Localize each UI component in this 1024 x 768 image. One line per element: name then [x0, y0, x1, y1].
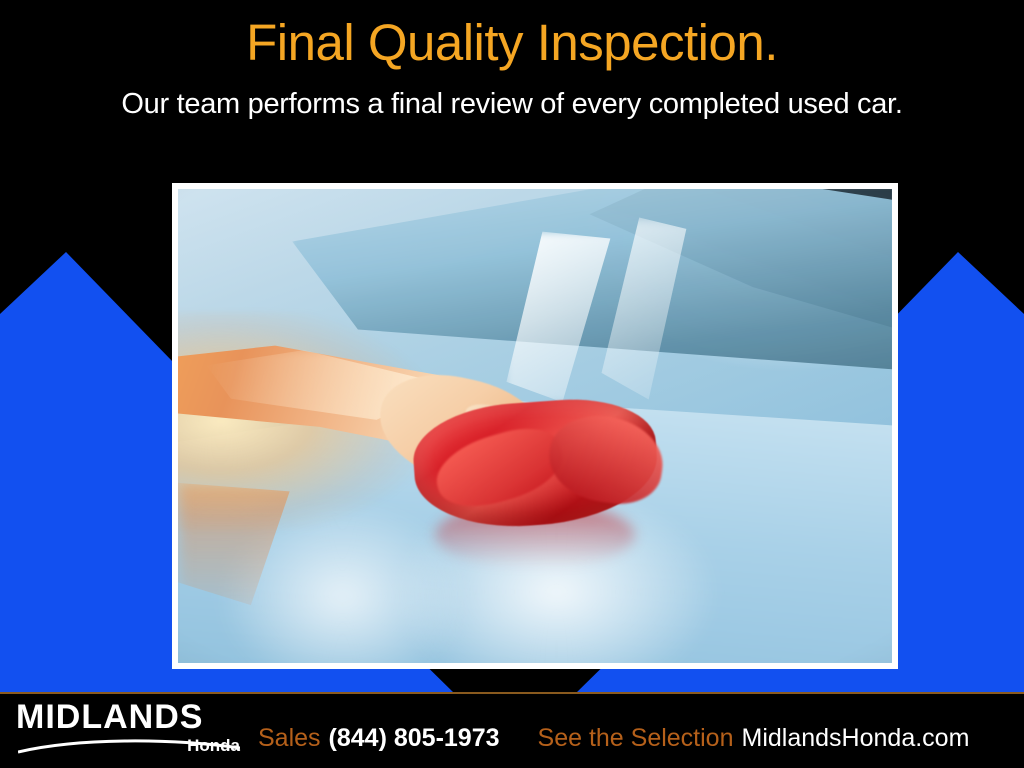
sales-label: Sales [258, 724, 321, 753]
car-detailing-photo [178, 189, 892, 663]
photo-vignette [178, 189, 892, 663]
ad-creative: Final Quality Inspection. Our team perfo… [0, 0, 1024, 768]
page-title: Final Quality Inspection. [0, 14, 1024, 72]
website-link[interactable]: MidlandsHonda.com [742, 724, 970, 753]
dealer-logo[interactable]: MIDLANDS Honda [16, 700, 246, 762]
dealer-logo-brand: MIDLANDS [16, 700, 246, 734]
hero-photo-frame [172, 183, 898, 669]
page-subtitle: Our team performs a final review of ever… [0, 86, 1024, 122]
footer-contact: Sales (844) 805-1973 See the Selection M… [258, 724, 969, 753]
selection-label: See the Selection [538, 724, 734, 753]
sales-phone-number[interactable]: (844) 805-1973 [329, 724, 500, 753]
dealer-logo-sub: Honda [187, 736, 240, 756]
